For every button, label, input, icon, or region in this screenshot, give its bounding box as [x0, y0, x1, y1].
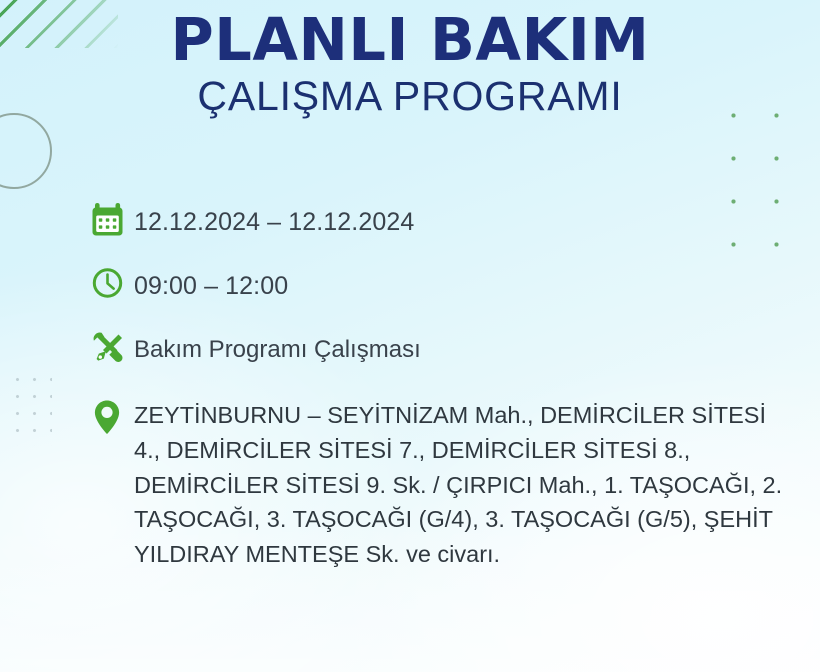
location-pin-icon [88, 394, 134, 444]
gray-dot-grid-decoration [6, 368, 52, 446]
poster-header: PLANLI BAKIM ÇALIŞMA PROGRAMI [0, 0, 820, 118]
page-title: PLANLI BAKIM [0, 10, 820, 71]
maintenance-work-type: Bakım Programı Çalışması [134, 326, 788, 367]
maintenance-affected-areas: ZEYTİNBURNU – SEYİTNİZAM Mah., DEMİRCİLE… [134, 394, 788, 572]
tools-icon [88, 326, 134, 372]
maintenance-date-range: 12.12.2024 – 12.12.2024 [134, 198, 788, 241]
info-row-time: 09:00 – 12:00 [88, 262, 788, 308]
info-row-date: 12.12.2024 – 12.12.2024 [88, 198, 788, 244]
maintenance-time-range: 09:00 – 12:00 [134, 262, 788, 305]
info-row-work-type: Bakım Programı Çalışması [88, 326, 788, 372]
info-row-location: ZEYTİNBURNU – SEYİTNİZAM Mah., DEMİRCİLE… [88, 394, 788, 572]
clock-icon [88, 262, 134, 308]
page-subtitle: ÇALIŞMA PROGRAMI [0, 75, 820, 118]
calendar-icon [88, 198, 134, 244]
circle-outline-decoration [0, 113, 52, 189]
maintenance-info-list: 12.12.2024 – 12.12.2024 09:00 – 12:00 [88, 198, 788, 572]
planned-maintenance-poster: PLANLI BAKIM ÇALIŞMA PROGRAMI [0, 0, 820, 672]
